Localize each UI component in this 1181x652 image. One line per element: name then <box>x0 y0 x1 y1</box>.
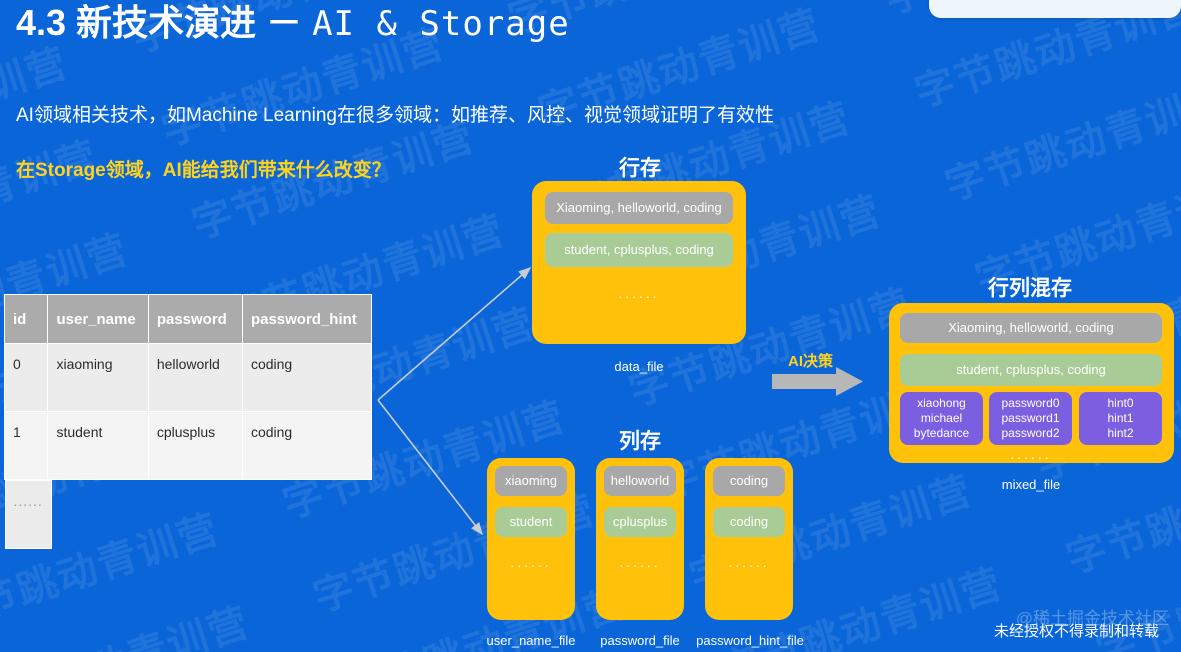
row-store-title: 行存 <box>590 152 690 182</box>
column-store-chip-pwd-2: cplusplus <box>604 507 676 537</box>
slide-canvas: 字节跳动青训营字节跳动青训营字节跳动青训营字节跳动青训营字节跳动青训营字节跳动青… <box>0 0 1181 652</box>
row-store-file-label: data_file <box>572 359 706 374</box>
row-store-chip-1: Xiaoming, helloworld, coding <box>545 192 733 224</box>
mixed-store-chip-1: Xiaoming, helloworld, coding <box>900 313 1162 343</box>
table-header-id: id <box>5 295 48 344</box>
column-store-file-label-password-hint: password_hint_file <box>688 633 812 648</box>
page-title-prefix: 4.3 新技术演进 － <box>16 2 302 43</box>
body-line-2: 在Storage领域，AI能给我们带来什么改变？ <box>16 155 391 182</box>
table-cell-user: student <box>48 412 148 480</box>
background-watermark-text: 字节跳动青训营 <box>0 590 256 652</box>
table-row: 0 xiaoming helloworld coding <box>5 344 372 412</box>
page-title: 4.3 新技术演进 － AI & Storage <box>16 0 570 47</box>
watermark-notice: 未经授权不得录制和转载 <box>994 620 1159 641</box>
mixed-store-ellipsis: ...... <box>900 446 1162 462</box>
column-store-chip-user-1: xiaoming <box>495 466 567 496</box>
table-cell-user: xiaoming <box>48 344 148 412</box>
mixed-store-column-group-password-text: password0 password1 password2 <box>1001 396 1059 441</box>
body-line-1: AI领域相关技术，如Machine Learning在很多领域：如推荐、风控、视… <box>16 100 774 127</box>
table-cell-hint: coding <box>242 412 371 480</box>
mixed-store-column-group-hint-text: hint0 hint1 hint2 <box>1107 396 1133 441</box>
column-store-chip-user-2: student <box>495 507 567 537</box>
row-store-chip-2: student, cplusplus, coding <box>545 233 733 267</box>
table-cell-hint: ...... <box>5 480 52 549</box>
source-table: id user_name password password_hint 0 xi… <box>4 294 372 480</box>
column-store-ellipsis-pwd: ...... <box>604 554 676 570</box>
table-cell-pwd: helloworld <box>148 344 242 412</box>
background-watermark-text: 字节跳动青训营 <box>0 124 105 270</box>
table-header-password: password <box>148 295 242 344</box>
top-right-overlay-panel[interactable] <box>929 0 1181 18</box>
table-cell-hint: coding <box>242 344 371 412</box>
mixed-store-chip-2: student, cplusplus, coding <box>900 354 1162 386</box>
table-header-password-hint: password_hint <box>242 295 371 344</box>
column-store-chip-hint-1: coding <box>713 466 785 496</box>
mixed-store-file-label: mixed_file <box>964 477 1098 492</box>
column-store-file-label-user-name: user_name_file <box>467 633 595 648</box>
background-watermark-text: 字节跳动青训营 <box>937 66 1181 212</box>
column-store-title: 列存 <box>590 425 690 455</box>
table-row: 1 student cplusplus coding <box>5 412 372 480</box>
ai-decision-label: AI决策 <box>788 350 833 371</box>
mixed-store-column-group-hint: hint0 hint1 hint2 <box>1079 392 1162 445</box>
mixed-store-title: 行列混存 <box>955 272 1105 302</box>
table-row: ...... ...... ...... ...... <box>5 480 372 481</box>
page-title-suffix: AI & Storage <box>312 4 570 44</box>
table-header-row: id user_name password password_hint <box>5 295 372 344</box>
table-cell-pwd: cplusplus <box>148 412 242 480</box>
table-cell-id: 0 <box>5 344 48 412</box>
table-header-user-name: user_name <box>48 295 148 344</box>
mixed-store-column-group-user-text: xiaohong michael bytedance <box>914 396 969 441</box>
column-store-ellipsis-hint: ...... <box>713 554 785 570</box>
table-cell-id: 1 <box>5 412 48 480</box>
column-store-chip-hint-2: coding <box>713 507 785 537</box>
column-store-file-label-password: password_file <box>578 633 702 648</box>
mixed-store-column-group-password: password0 password1 password2 <box>989 392 1072 445</box>
column-store-chip-pwd-1: helloworld <box>604 466 676 496</box>
column-store-ellipsis-user: ...... <box>495 554 567 570</box>
row-store-ellipsis: ...... <box>545 285 733 301</box>
mixed-store-column-group-user: xiaohong michael bytedance <box>900 392 983 445</box>
